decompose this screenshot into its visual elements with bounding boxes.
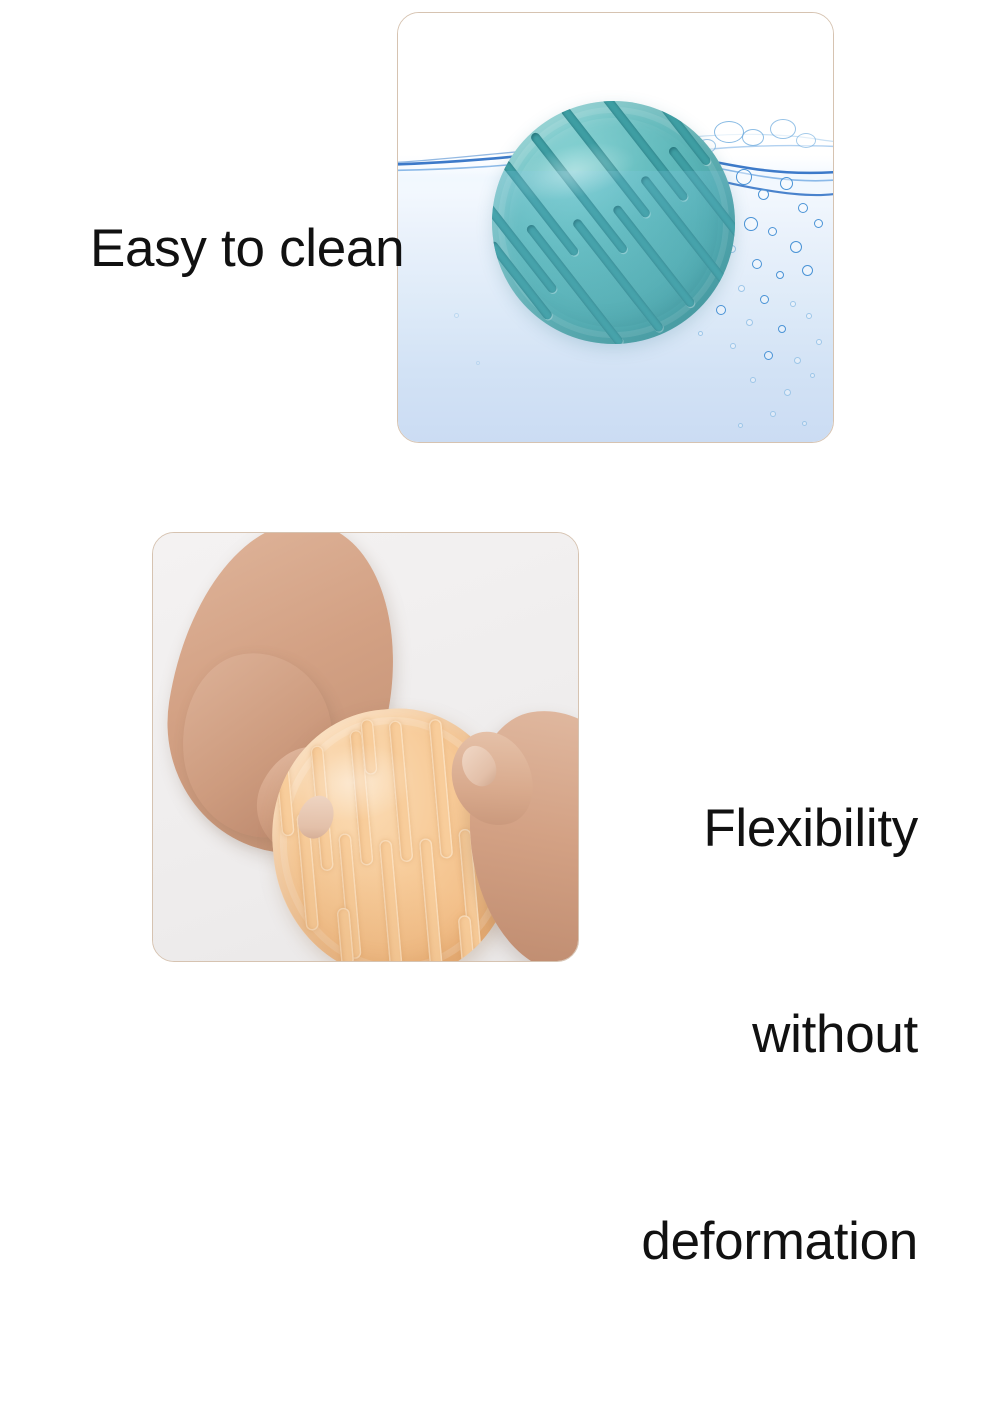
bubble <box>736 169 752 185</box>
bubble <box>798 203 808 213</box>
caption-flexibility: Flexibility without deformation <box>641 657 918 1415</box>
bubble <box>806 313 812 319</box>
foam-blob <box>796 133 816 148</box>
easy-to-clean-photo-panel <box>397 12 834 443</box>
caption-line-3: deformation <box>641 1208 918 1277</box>
bubble <box>790 241 802 253</box>
bubble <box>784 389 791 396</box>
bubble <box>752 259 762 269</box>
hands-scene <box>153 533 578 961</box>
bubble <box>760 295 769 304</box>
foam-blob <box>742 129 764 146</box>
bubble <box>738 423 743 428</box>
bubble <box>768 227 777 236</box>
marketing-image-canvas: Easy to clean Flexibility without deform… <box>0 0 1000 1000</box>
bubble <box>814 219 823 228</box>
caption-line-2: without <box>641 1001 918 1070</box>
bubble <box>738 285 745 292</box>
bubble <box>794 357 801 364</box>
bubble <box>776 271 784 279</box>
bubble <box>802 421 807 426</box>
bubble <box>770 411 776 417</box>
flexibility-photo-panel <box>152 532 579 962</box>
teal-silicone-trivet <box>492 101 735 344</box>
bubble <box>758 189 769 200</box>
bubble <box>476 361 480 365</box>
water-scene <box>398 13 833 442</box>
bubble <box>810 373 815 378</box>
foam-blob <box>770 119 796 139</box>
bubble <box>802 265 813 276</box>
bubble <box>744 217 758 231</box>
caption-easy-to-clean: Easy to clean <box>90 219 404 278</box>
bubble <box>746 319 753 326</box>
caption-line-1: Flexibility <box>641 795 918 864</box>
bubble <box>764 351 773 360</box>
bubble <box>780 177 793 190</box>
bubble <box>778 325 786 333</box>
bubble <box>816 339 822 345</box>
bubble <box>790 301 796 307</box>
bubble <box>454 313 459 318</box>
bubble <box>750 377 756 383</box>
